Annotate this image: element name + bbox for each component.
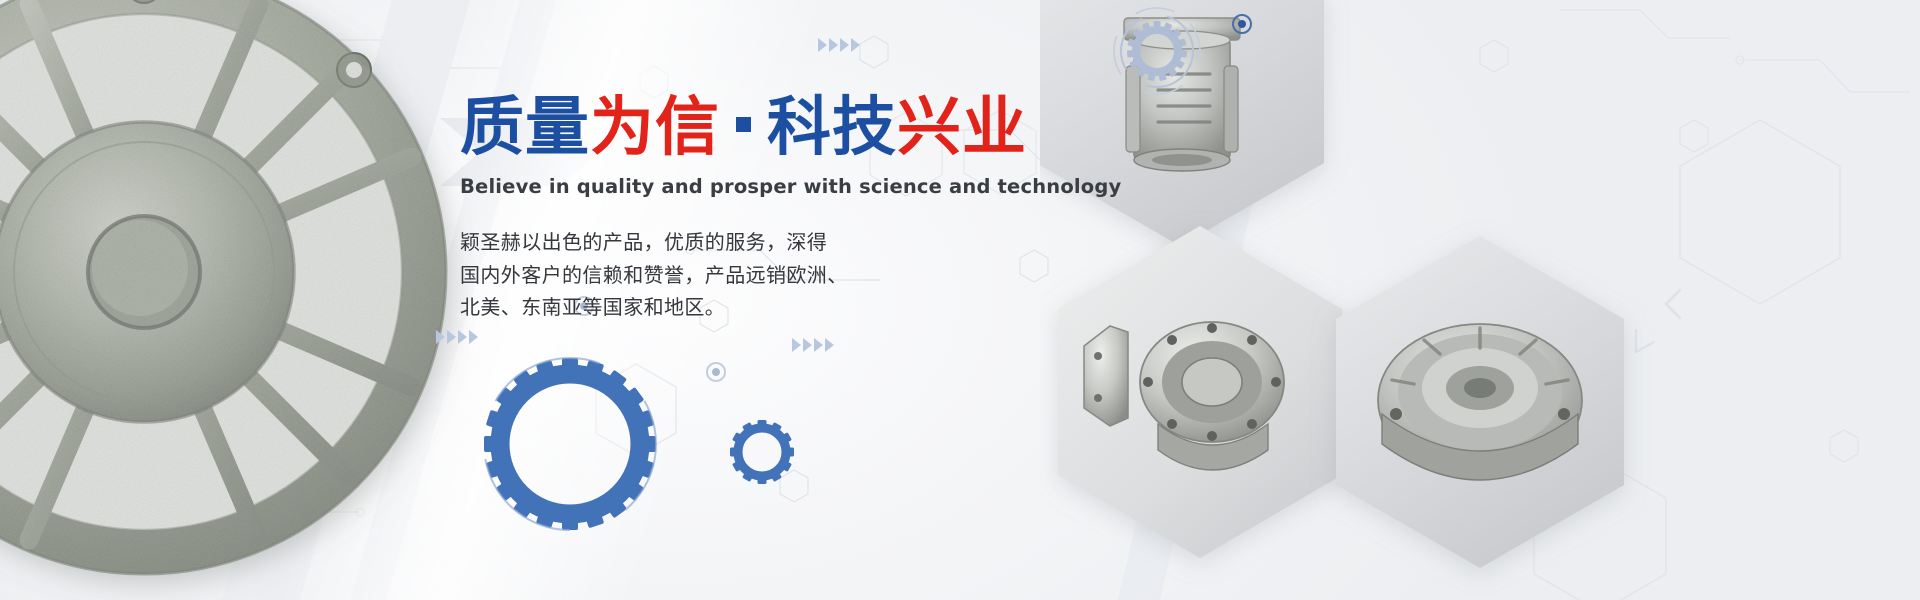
description-line-3: 北美、东南亚等国家和地区。 bbox=[460, 291, 1020, 323]
banner-copy-block: 质量为信科技兴业 Believe in quality and prosper … bbox=[460, 96, 1020, 323]
product-image-left-wheel bbox=[0, 0, 474, 600]
description-line-1: 颖圣赫以出色的产品，优质的服务，深得 bbox=[460, 226, 1020, 258]
headline-segment-2: 为信 bbox=[590, 91, 720, 165]
hex-tile-top bbox=[1040, 0, 1324, 246]
hex-tile-left bbox=[1058, 226, 1342, 558]
gear-outline-icon bbox=[1110, 4, 1204, 103]
arrow-cluster-top bbox=[818, 38, 860, 52]
gear-small-icon bbox=[728, 418, 796, 491]
page-title: 质量为信科技兴业 bbox=[460, 96, 1020, 161]
product-hexagon-gallery bbox=[1040, 0, 1920, 600]
headline-segment-1: 质量 bbox=[460, 91, 590, 165]
description-line-2: 国内外客户的信赖和赞誉，产品远销欧洲、 bbox=[460, 259, 1020, 291]
ring-dot-top bbox=[1232, 14, 1252, 34]
hex-tile-right bbox=[1336, 236, 1624, 568]
headline-segment-4: 兴业 bbox=[897, 91, 1027, 165]
headline-segment-3: 科技 bbox=[767, 91, 897, 165]
headline-separator-dot bbox=[736, 117, 751, 132]
ring-dot-mid bbox=[706, 362, 726, 382]
banner-description: 颖圣赫以出色的产品，优质的服务，深得 国内外客户的信赖和赞誉，产品远销欧洲、 北… bbox=[460, 226, 1020, 323]
promo-banner: 质量为信科技兴业 Believe in quality and prosper … bbox=[0, 0, 1920, 600]
arrow-cluster-mid bbox=[436, 330, 478, 344]
subheadline: Believe in quality and prosper with scie… bbox=[460, 175, 1020, 198]
gear-large-icon bbox=[478, 352, 662, 541]
arrow-cluster-right bbox=[792, 338, 834, 352]
